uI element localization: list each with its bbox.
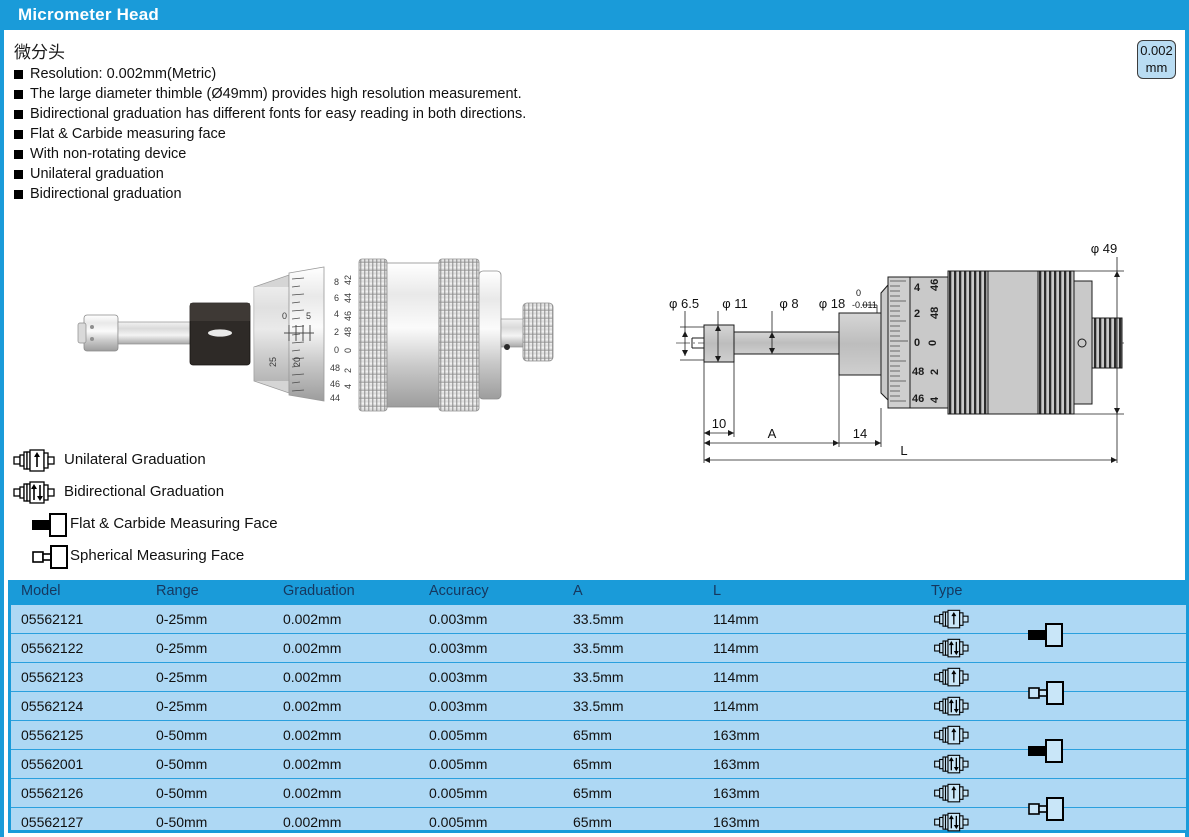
table-row[interactable]: 05562123 0-25mm 0.002mm 0.003mm 33.5mm 1…	[11, 663, 1186, 692]
spherical-face-icon	[1026, 678, 1086, 718]
table-row[interactable]: 05562125 0-50mm 0.002mm 0.005mm 65mm 163…	[11, 721, 1186, 750]
feature-text: Flat & Carbide measuring face	[30, 126, 226, 142]
artwork-area: 8 6 4 2 0 48 46 44 42 44 46 48 0 2 4	[4, 215, 1189, 465]
cell-model: 05562121	[21, 611, 83, 627]
table-row[interactable]: 05562124 0-25mm 0.002mm 0.003mm 33.5mm 1…	[11, 692, 1186, 721]
feature-text: Unilateral graduation	[30, 166, 164, 182]
cell-l: 163mm	[713, 785, 760, 801]
svg-text:2: 2	[929, 369, 941, 375]
cell-model: 05562127	[21, 814, 83, 830]
svg-text:46: 46	[343, 311, 353, 321]
cell-accuracy: 0.003mm	[429, 611, 487, 627]
resolution-unit: mm	[1138, 60, 1175, 76]
thimble-label: 48	[912, 366, 924, 378]
svg-text:0: 0	[343, 348, 353, 353]
bullet-square-icon	[14, 190, 23, 199]
feature-item: Bidirectional graduation has different f…	[14, 104, 914, 124]
dim-dia-8: φ 8	[779, 296, 798, 311]
bullet-square-icon	[14, 170, 23, 179]
cell-range: 0-50mm	[156, 814, 207, 830]
cell-range: 0-50mm	[156, 785, 207, 801]
dim-tol-lower: -0.011	[852, 300, 877, 310]
bidirectional-graduation-icon	[931, 636, 975, 661]
thimble-label: 0	[914, 337, 920, 349]
svg-text:4: 4	[929, 396, 941, 403]
thimble-label: 4	[914, 282, 921, 294]
svg-text:44: 44	[330, 393, 340, 403]
technical-drawing: 4 2 0 48 46 46 48 0 2 4	[669, 241, 1124, 463]
cell-l: 114mm	[713, 669, 759, 685]
column-header-range: Range	[156, 583, 199, 599]
table-header-row: Model Range Graduation Accuracy A L Type	[11, 580, 1186, 605]
bidirectional-graduation-icon	[931, 694, 975, 719]
cell-model: 05562123	[21, 669, 83, 685]
cell-model: 05562126	[21, 785, 83, 801]
flat-carbide-face-icon	[1026, 736, 1086, 776]
column-header-model: Model	[21, 583, 61, 599]
column-header-l: L	[713, 583, 721, 599]
cell-a: 65mm	[573, 814, 612, 830]
resolution-value: 0.002	[1138, 42, 1175, 60]
bullet-square-icon	[14, 90, 23, 99]
feature-item: Bidirectional graduation	[14, 184, 914, 204]
cell-a: 65mm	[573, 756, 612, 772]
cell-model: 05562122	[21, 640, 83, 656]
cell-range: 0-50mm	[156, 756, 207, 772]
spherical-face-icon	[1026, 794, 1086, 834]
cell-l: 163mm	[713, 756, 760, 772]
dim-14: 14	[853, 426, 867, 441]
table-row[interactable]: 05562126 0-50mm 0.002mm 0.005mm 65mm 163…	[11, 779, 1186, 808]
cell-accuracy: 0.005mm	[429, 727, 487, 743]
cell-l: 114mm	[713, 611, 759, 627]
table-row[interactable]: 05562127 0-50mm 0.002mm 0.005mm 65mm 163…	[11, 808, 1186, 837]
column-header-graduation: Graduation	[283, 583, 355, 599]
page-header: Micrometer Head	[4, 0, 1189, 30]
cell-range: 0-50mm	[156, 727, 207, 743]
svg-text:46: 46	[929, 279, 941, 291]
column-header-type: Type	[931, 583, 962, 599]
table-row[interactable]: 05562001 0-50mm 0.002mm 0.005mm 65mm 163…	[11, 750, 1186, 779]
cell-graduation: 0.002mm	[283, 698, 341, 714]
bidirectional-graduation-icon	[931, 810, 975, 835]
cell-graduation: 0.002mm	[283, 785, 341, 801]
cell-accuracy: 0.005mm	[429, 756, 487, 772]
svg-text:48: 48	[330, 363, 340, 373]
cell-a: 33.5mm	[573, 611, 624, 627]
cell-range: 0-25mm	[156, 640, 207, 656]
feature-item: The large diameter thimble (Ø49mm) provi…	[14, 84, 914, 104]
cell-graduation: 0.002mm	[283, 814, 341, 830]
svg-text:8: 8	[334, 277, 339, 287]
svg-text:4: 4	[334, 309, 339, 319]
cell-graduation: 0.002mm	[283, 611, 341, 627]
feature-text: Bidirectional graduation has different f…	[30, 106, 526, 122]
svg-text:48: 48	[343, 327, 353, 337]
cell-range: 0-25mm	[156, 611, 207, 627]
table-row[interactable]: 05562122 0-25mm 0.002mm 0.003mm 33.5mm 1…	[11, 634, 1186, 663]
dim-dia-18: φ 18	[819, 296, 846, 311]
column-header-accuracy: Accuracy	[429, 583, 489, 599]
feature-text: Bidirectional graduation	[30, 186, 182, 202]
flat-carbide-face-icon	[1026, 620, 1086, 660]
dim-A: A	[768, 426, 777, 441]
dim-dia-49: φ 49	[1091, 241, 1118, 256]
legend-label: Bidirectional Graduation	[64, 483, 224, 500]
svg-text:46: 46	[330, 379, 340, 389]
legend-label: Spherical Measuring Face	[70, 547, 244, 564]
table-row[interactable]: 05562121 0-25mm 0.002mm 0.003mm 33.5mm 1…	[11, 605, 1186, 634]
feature-item: Flat & Carbide measuring face	[14, 124, 914, 144]
bullet-square-icon	[14, 130, 23, 139]
svg-text:44: 44	[343, 293, 353, 303]
column-header-a: A	[573, 583, 583, 599]
svg-text:20: 20	[292, 357, 302, 367]
chinese-title: 微分头	[14, 38, 65, 63]
feature-item: Resolution: 0.002mm(Metric)	[14, 64, 914, 84]
cell-accuracy: 0.003mm	[429, 640, 487, 656]
cell-model: 05562001	[21, 756, 83, 772]
cell-graduation: 0.002mm	[283, 640, 341, 656]
cell-range: 0-25mm	[156, 669, 207, 685]
feature-text: The large diameter thimble (Ø49mm) provi…	[30, 86, 522, 102]
page-title: Micrometer Head	[18, 5, 159, 25]
cell-graduation: 0.002mm	[283, 727, 341, 743]
cell-graduation: 0.002mm	[283, 756, 341, 772]
svg-text:0: 0	[282, 311, 287, 321]
cell-range: 0-25mm	[156, 698, 207, 714]
cell-l: 114mm	[713, 698, 759, 714]
legend-label: Flat & Carbide Measuring Face	[70, 515, 278, 532]
dim-dia-6-5: φ 6.5	[669, 296, 699, 311]
svg-text:0: 0	[334, 345, 339, 355]
spec-table: Model Range Graduation Accuracy A L Type…	[8, 580, 1189, 833]
bidirectional-graduation-icon	[931, 752, 975, 777]
cell-l: 163mm	[713, 814, 760, 830]
dim-L: L	[900, 443, 907, 458]
unilateral-graduation-icon	[931, 607, 975, 632]
svg-text:6: 6	[334, 293, 339, 303]
svg-text:42: 42	[343, 275, 353, 285]
dim-tol-upper: 0	[856, 288, 861, 298]
feature-item: With non-rotating device	[14, 144, 914, 164]
unilateral-graduation-icon	[931, 665, 975, 690]
product-photo: 8 6 4 2 0 48 46 44 42 44 46 48 0 2 4	[78, 259, 553, 411]
feature-text: Resolution: 0.002mm(Metric)	[30, 66, 216, 82]
bidirectional-graduation-icon	[12, 478, 60, 508]
svg-text:2: 2	[334, 327, 339, 337]
bullet-square-icon	[14, 110, 23, 119]
cell-a: 65mm	[573, 785, 612, 801]
cell-graduation: 0.002mm	[283, 669, 341, 685]
cell-accuracy: 0.003mm	[429, 669, 487, 685]
cell-a: 65mm	[573, 727, 612, 743]
cell-a: 33.5mm	[573, 669, 624, 685]
svg-text:4: 4	[343, 384, 353, 389]
thimble-label: 46	[912, 393, 924, 405]
cell-model: 05562124	[21, 698, 83, 714]
cell-accuracy: 0.003mm	[429, 698, 487, 714]
cell-l: 114mm	[713, 640, 759, 656]
svg-text:48: 48	[929, 307, 941, 319]
cell-a: 33.5mm	[573, 640, 624, 656]
legend-label: Unilateral Graduation	[64, 451, 206, 468]
dim-10: 10	[712, 416, 726, 431]
svg-text:25: 25	[268, 357, 278, 367]
thimble-label: 2	[914, 308, 920, 320]
feature-list: Resolution: 0.002mm(Metric) The large di…	[14, 64, 914, 204]
svg-text:5: 5	[306, 311, 311, 321]
cell-accuracy: 0.005mm	[429, 785, 487, 801]
cell-a: 33.5mm	[573, 698, 624, 714]
cell-model: 05562125	[21, 727, 83, 743]
dim-dia-11: φ 11	[722, 296, 748, 311]
cell-accuracy: 0.005mm	[429, 814, 487, 830]
svg-text:2: 2	[343, 368, 353, 373]
resolution-badge: 0.002 mm	[1137, 40, 1176, 79]
feature-item: Unilateral graduation	[14, 164, 914, 184]
unilateral-graduation-icon	[931, 781, 975, 806]
svg-text:0: 0	[927, 340, 939, 346]
feature-text: With non-rotating device	[30, 146, 186, 162]
bullet-square-icon	[14, 150, 23, 159]
cell-l: 163mm	[713, 727, 760, 743]
catalog-page: Micrometer Head 微分头 Resolution: 0.002mm(…	[0, 0, 1189, 837]
bullet-square-icon	[14, 70, 23, 79]
unilateral-graduation-icon	[931, 723, 975, 748]
unilateral-graduation-icon	[12, 446, 60, 476]
